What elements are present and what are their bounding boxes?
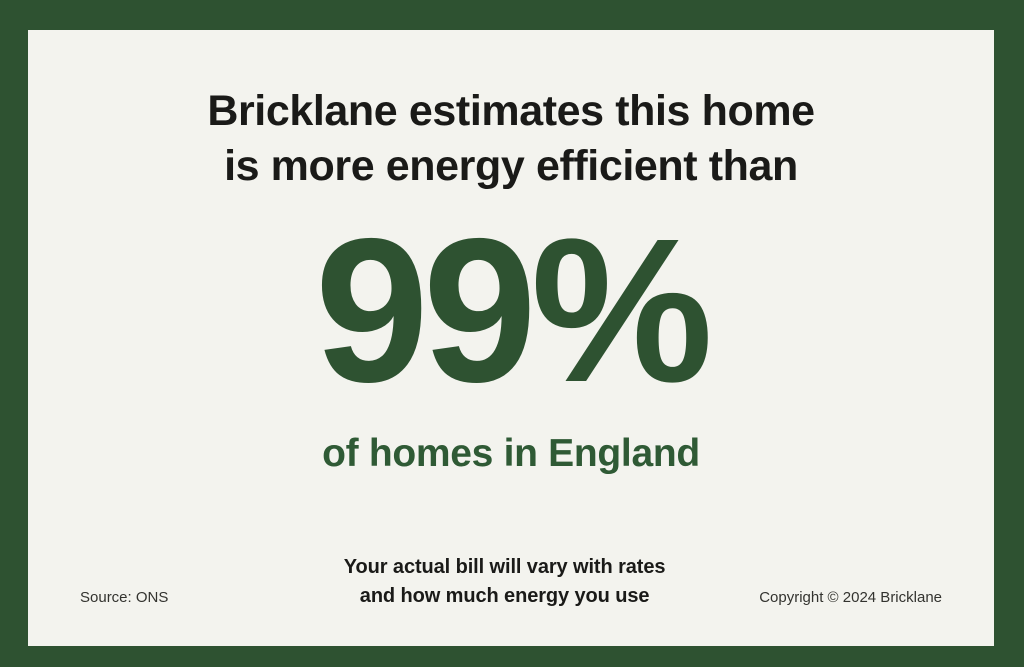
headline-line-1: Bricklane estimates this home: [28, 84, 994, 139]
footer-source-label: Source: ONS: [80, 589, 250, 610]
infographic-frame: Bricklane estimates this home is more en…: [0, 0, 1024, 667]
footer-copyright-label: Copyright © 2024 Bricklane: [759, 589, 942, 610]
headline-line-2: is more energy efficient than: [28, 139, 994, 194]
stat-percentage-value: 99%: [315, 214, 707, 409]
disclaimer-line-2: and how much energy you use: [250, 582, 759, 610]
stat-caption: of homes in England: [28, 431, 994, 478]
disclaimer-line-1: Your actual bill will vary with rates: [250, 553, 759, 581]
footer: Source: ONS Your actual bill will vary w…: [28, 536, 994, 610]
infographic-card: Bricklane estimates this home is more en…: [28, 30, 994, 646]
disclaimer: Your actual bill will vary with rates an…: [250, 553, 759, 610]
stat-block: 99%: [28, 214, 994, 409]
headline: Bricklane estimates this home is more en…: [28, 84, 994, 194]
